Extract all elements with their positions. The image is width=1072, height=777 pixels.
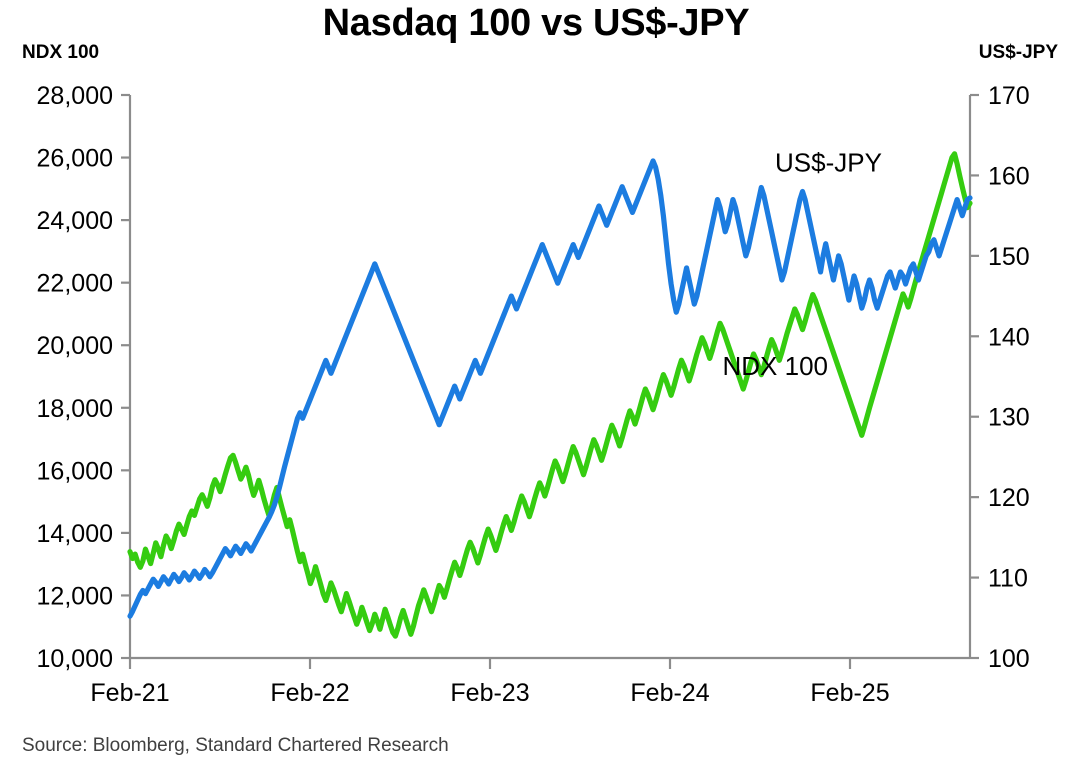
series-lines xyxy=(130,154,970,636)
series-label-us-jpy: US$-JPY xyxy=(775,147,882,177)
series-label-ndx-100: NDX 100 xyxy=(723,351,829,381)
left-tick-label: 18,000 xyxy=(37,395,113,423)
right-tick-label: 160 xyxy=(988,162,1030,190)
x-axis-ticks: Feb-21Feb-22Feb-23Feb-24Feb-25 xyxy=(90,658,889,707)
right-tick-label: 140 xyxy=(988,323,1030,351)
right-tick-label: 150 xyxy=(988,243,1030,271)
left-tick-label: 14,000 xyxy=(37,520,113,548)
x-tick-label: Feb-25 xyxy=(810,679,889,707)
left-tick-label: 26,000 xyxy=(37,145,113,173)
left-tick-label: 24,000 xyxy=(37,207,113,235)
right-axis-title: US$-JPY xyxy=(979,42,1058,64)
left-tick-label: 12,000 xyxy=(37,582,113,610)
x-tick-label: Feb-23 xyxy=(450,679,529,707)
chart-plot-area: 10,00012,00014,00016,00018,00020,00022,0… xyxy=(0,0,1072,777)
x-tick-label: Feb-21 xyxy=(90,679,169,707)
left-tick-label: 20,000 xyxy=(37,332,113,360)
right-tick-label: 170 xyxy=(988,82,1030,110)
right-tick-label: 120 xyxy=(988,484,1030,512)
series-line-ndx-100 xyxy=(130,154,970,636)
left-axis-title: NDX 100 xyxy=(22,42,99,64)
right-axis-ticks: 100110120130140150160170 xyxy=(970,82,1030,673)
chart-figure: Nasdaq 100 vs US$-JPY NDX 100 US$-JPY 10… xyxy=(0,0,1072,777)
right-tick-label: 130 xyxy=(988,404,1030,432)
series-inline-labels: NDX 100US$-JPY xyxy=(723,147,882,381)
left-tick-label: 22,000 xyxy=(37,270,113,298)
source-note: Source: Bloomberg, Standard Chartered Re… xyxy=(22,735,449,757)
left-tick-label: 16,000 xyxy=(37,457,113,485)
right-tick-label: 110 xyxy=(988,565,1028,593)
page-title: Nasdaq 100 vs US$-JPY xyxy=(0,2,1072,45)
right-tick-label: 100 xyxy=(988,645,1030,673)
left-axis-ticks: 10,00012,00014,00016,00018,00020,00022,0… xyxy=(37,82,130,673)
x-tick-label: Feb-24 xyxy=(630,679,709,707)
x-tick-label: Feb-22 xyxy=(270,679,349,707)
left-tick-label: 28,000 xyxy=(37,82,113,110)
left-tick-label: 10,000 xyxy=(37,645,113,673)
